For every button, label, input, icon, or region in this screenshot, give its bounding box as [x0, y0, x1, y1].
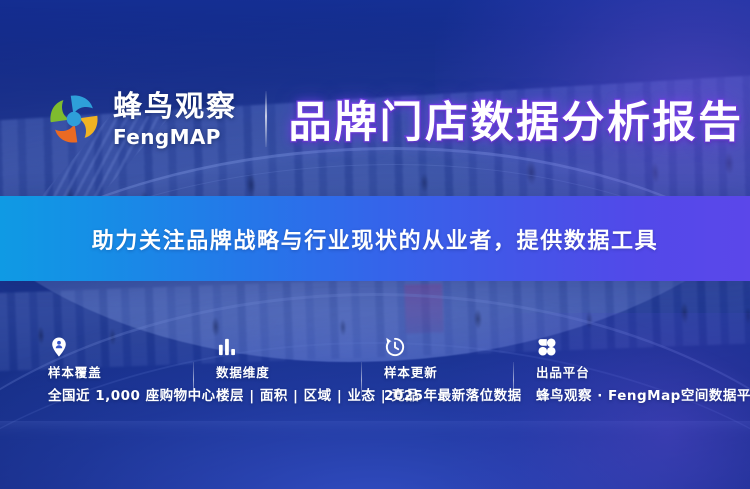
subtitle-banner: 助力关注品牌战略与行业现状的从业者，提供数据工具 [0, 196, 750, 281]
location-person-pin-icon [48, 336, 70, 358]
page-title: 品牌门店数据分析报告 [289, 88, 744, 150]
stat-value: 蜂鸟观察 · FengMap空间数据平台 [536, 389, 750, 404]
stat-label: 样本更新 [384, 367, 513, 380]
poster-header: 蜂鸟观察 FengMAP 品牌门店数据分析报告 [46, 88, 744, 150]
brand-name-en: FengMAP [113, 127, 237, 147]
stat-item-sample-coverage: 样本覆盖 全国近 1,000 座购物中心 [48, 336, 193, 403]
pinwheel-swirl-icon [46, 91, 102, 147]
stat-value: 全国近 1,000 座购物中心 [48, 389, 193, 404]
four-petal-clover-icon [536, 336, 558, 358]
stat-value: 楼层 | 面积 | 区域 | 业态 | 竞品 [216, 389, 361, 404]
stats-row: 样本覆盖 全国近 1,000 座购物中心 数据维度 楼层 | 面积 | 区域 |… [0, 336, 750, 403]
stat-item-publisher-platform: 出品平台 蜂鸟观察 · FengMap空间数据平台 [513, 336, 750, 403]
brand-logo[interactable]: 蜂鸟观察 FengMAP [46, 91, 237, 147]
stat-item-data-dimensions: 数据维度 楼层 | 面积 | 区域 | 业态 | 竞品 [193, 336, 361, 403]
stat-item-sample-update: 样本更新 2025年最新落位数据 [361, 336, 513, 403]
stat-label: 样本覆盖 [48, 367, 193, 380]
stat-label: 出品平台 [536, 367, 750, 380]
brand-name-cn: 蜂鸟观察 [113, 92, 237, 121]
clock-history-icon [384, 336, 406, 358]
subtitle-text: 助力关注品牌战略与行业现状的从业者，提供数据工具 [92, 223, 658, 255]
bar-chart-icon [216, 336, 238, 358]
report-cover-poster: 蜂鸟观察 FengMAP 品牌门店数据分析报告 助力关注品牌战略与行业现状的从业… [0, 0, 750, 489]
stat-value: 2025年最新落位数据 [384, 389, 513, 404]
stat-label: 数据维度 [216, 367, 361, 380]
header-divider [265, 91, 267, 147]
